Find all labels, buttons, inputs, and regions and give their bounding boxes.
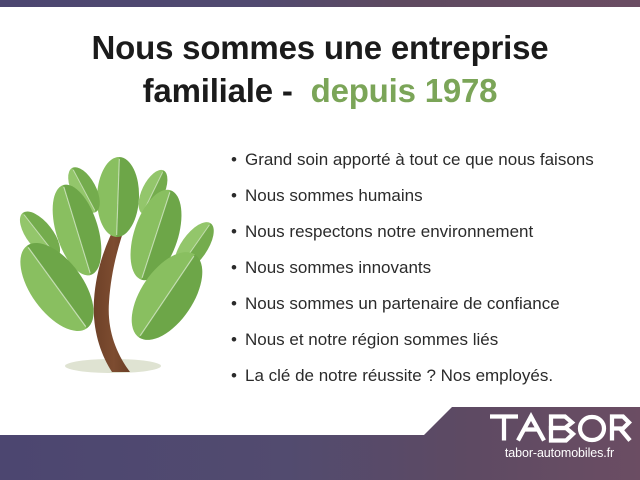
top-accent-bar [0,0,640,7]
list-item: • Nous respectons notre environnement [231,220,631,256]
value-bullet-list: • Grand soin apporté à tout ce que nous … [231,148,631,400]
bullet-marker-icon: • [231,328,245,351]
bullet-marker-icon: • [231,220,245,243]
list-item: • La clé de notre réussite ? Nos employé… [231,364,631,400]
page-title: Nous sommes une entreprise familiale - d… [0,26,640,112]
list-item-label: La clé de notre réussite ? Nos employés. [245,364,553,387]
page-title-line-2-plain: familiale - [143,72,311,109]
list-item: • Nous sommes innovants [231,256,631,292]
tabor-wordmark-icon [487,411,632,445]
list-item: • Nous et notre région sommes liés [231,328,631,364]
page-title-line-1: Nous sommes une entreprise [0,26,640,69]
tree-illustration [8,150,223,385]
brand-url-label: tabor-automobiles.fr [487,446,632,460]
bullet-marker-icon: • [231,256,245,279]
list-item-label: Grand soin apporté à tout ce que nous fa… [245,148,594,171]
list-item-label: Nous respectons notre environnement [245,220,533,243]
brand-logo[interactable]: tabor-automobiles.fr [487,411,632,460]
list-item-label: Nous sommes un partenaire de confiance [245,292,560,315]
bullet-marker-icon: • [231,184,245,207]
bullet-marker-icon: • [231,292,245,315]
page-title-line-2: familiale - depuis 1978 [0,69,640,112]
bullet-marker-icon: • [231,364,245,387]
slide-canvas: Nous sommes une entreprise familiale - d… [0,0,640,480]
list-item: • Grand soin apporté à tout ce que nous … [231,148,631,184]
list-item: • Nous sommes humains [231,184,631,220]
page-title-accent: depuis 1978 [311,72,498,109]
footer-banner: tabor-automobiles.fr [0,398,640,480]
list-item: • Nous sommes un partenaire de confiance [231,292,631,328]
bullet-marker-icon: • [231,148,245,171]
list-item-label: Nous sommes innovants [245,256,431,279]
list-item-label: Nous et notre région sommes liés [245,328,498,351]
list-item-label: Nous sommes humains [245,184,423,207]
